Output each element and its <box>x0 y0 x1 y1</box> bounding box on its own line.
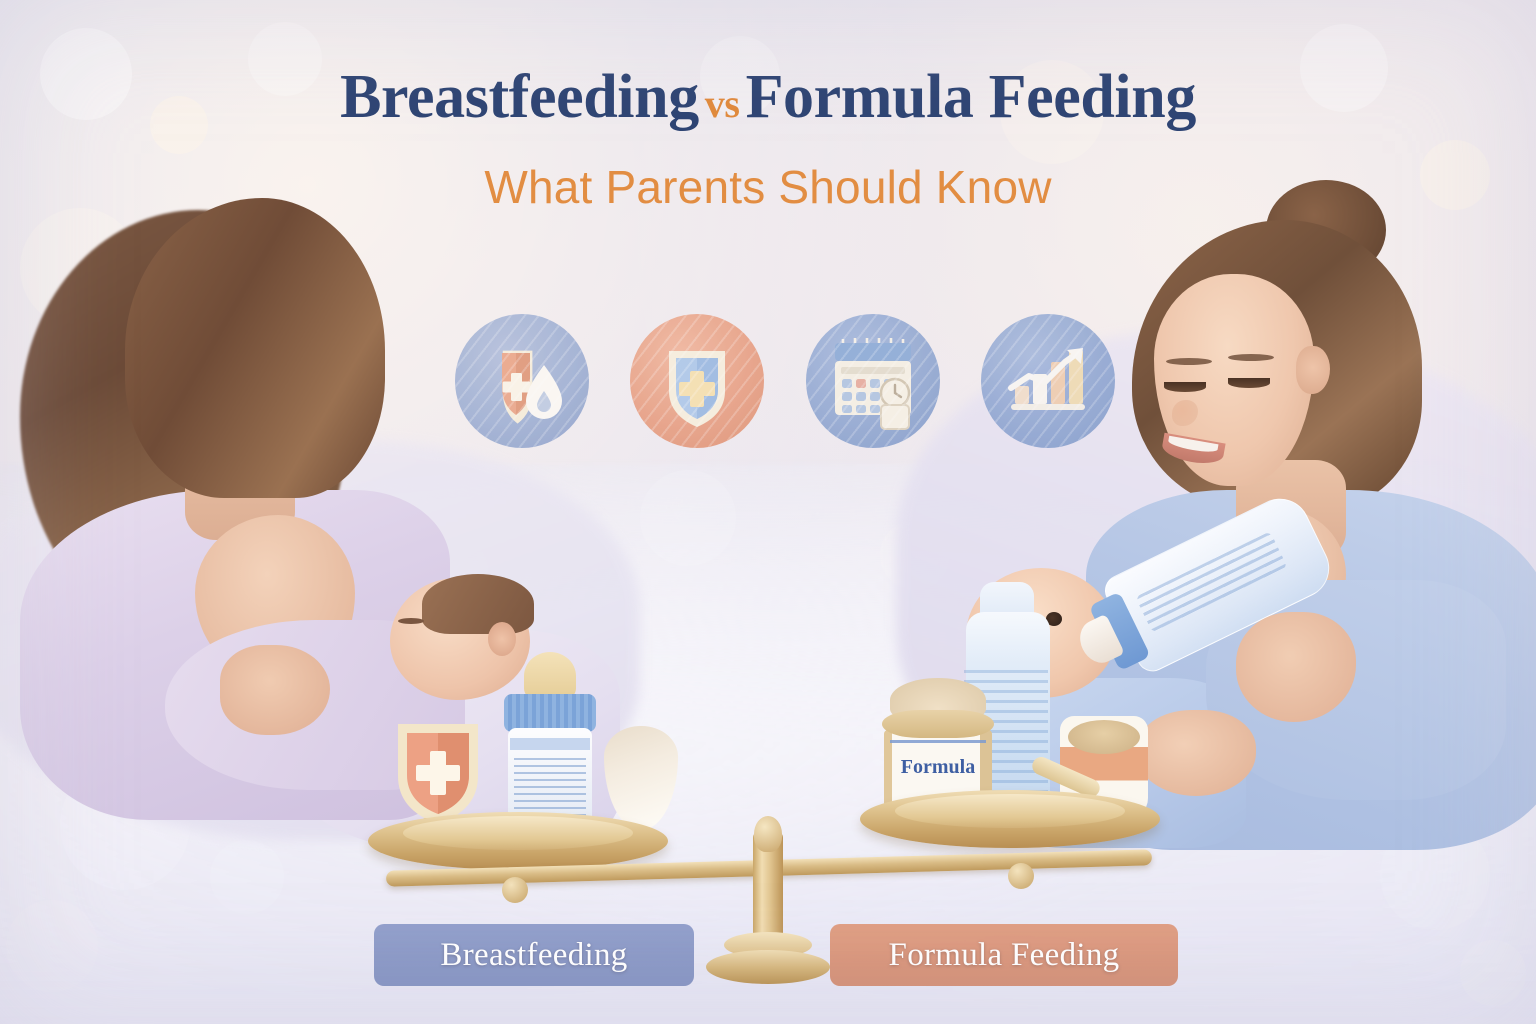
baby-eye <box>398 618 424 624</box>
calendar-clock-icon[interactable] <box>806 314 940 448</box>
title-part-breastfeeding: Breastfeeding <box>340 63 699 131</box>
growth-chart-icon[interactable] <box>981 314 1115 448</box>
label-formula-feeding[interactable]: Formula Feeding <box>830 924 1178 986</box>
mother-eyebrow <box>1166 358 1212 365</box>
baby-hair <box>422 574 534 634</box>
health-shield <box>390 718 486 828</box>
shield-droplet-icon[interactable] <box>455 314 589 448</box>
scale-pan-right <box>860 790 1160 848</box>
mother-eye <box>1228 378 1270 388</box>
mother-hair-front <box>125 198 385 498</box>
beam-knob-left <box>502 877 528 903</box>
scale-finial <box>754 816 782 852</box>
page-subtitle: What Parents Should Know <box>0 160 1536 214</box>
baby-bottle <box>496 652 604 832</box>
scale-pan-left <box>368 812 668 870</box>
mother-hand <box>220 645 330 735</box>
shield-cross-icon[interactable] <box>630 314 764 448</box>
mother-eyebrow <box>1228 354 1274 361</box>
scale-base <box>706 950 830 984</box>
title-part-formula: Formula Feeding <box>746 63 1196 131</box>
formula-tin-label: Formula <box>878 756 998 779</box>
benefit-icon-row <box>455 312 1115 450</box>
mother-eye <box>1164 382 1206 392</box>
title-vs: vs <box>699 81 746 126</box>
balance-scale: Formula <box>368 630 1168 970</box>
page-title: BreastfeedingvsFormula Feeding <box>0 62 1536 133</box>
label-breastfeeding[interactable]: Breastfeeding <box>374 924 694 986</box>
poster-canvas: Formula Breastfeeding Formula Feeding Br… <box>0 0 1536 1024</box>
milk-droplet <box>604 726 678 830</box>
beam-knob-right <box>1008 863 1034 889</box>
